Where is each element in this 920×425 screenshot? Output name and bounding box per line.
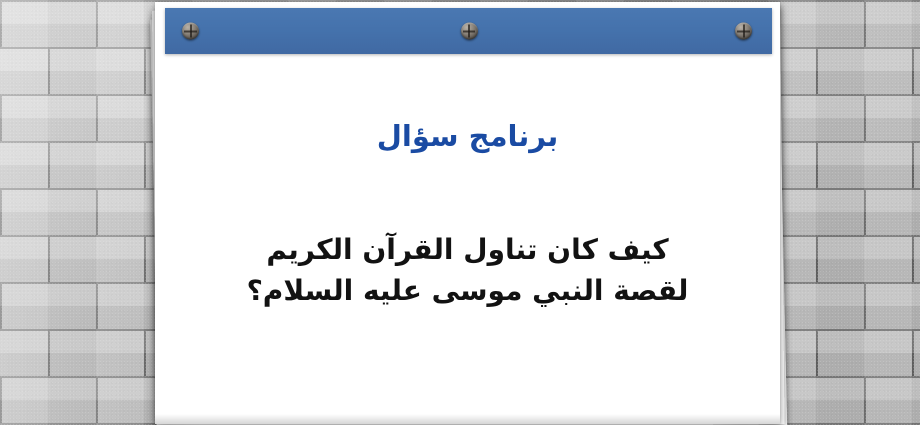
paper-bottom-shadow [155, 414, 780, 424]
slide-header-band [165, 8, 772, 54]
screw-icon-left [182, 23, 199, 40]
screw-icon-right [735, 23, 752, 40]
question-line-1: كيف كان تناول القرآن الكريم [177, 229, 758, 270]
screw-icon-center [461, 23, 478, 40]
slide-question-text: كيف كان تناول القرآن الكريم لقصة النبي م… [177, 229, 758, 312]
slide-stage: برنامج سؤال كيف كان تناول القرآن الكريم … [0, 0, 920, 425]
slide-title: برنامج سؤال [155, 120, 780, 153]
question-line-2: لقصة النبي موسى عليه السلام؟ [177, 270, 758, 311]
slide-paper: برنامج سؤال كيف كان تناول القرآن الكريم … [155, 2, 780, 424]
